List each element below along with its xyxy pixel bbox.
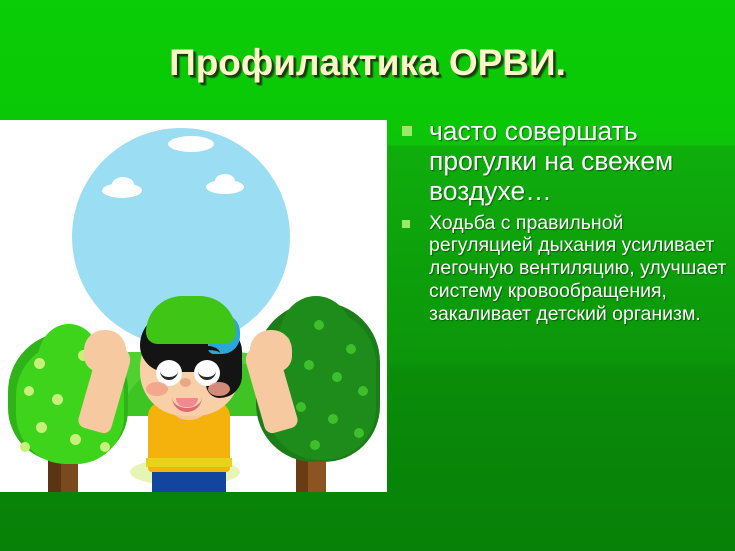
bullet-list: часто совершать прогулки на свежем возду…: [402, 116, 727, 326]
leaf-dot: [328, 414, 338, 424]
cloud-icon: [112, 177, 134, 192]
leaf-dot: [34, 358, 45, 369]
bullet-item-1: часто совершать прогулки на свежем возду…: [402, 116, 727, 207]
slide-illustration: [0, 120, 387, 492]
boy-hand-right: [250, 330, 292, 372]
slide-body-text: часто совершать прогулки на свежем возду…: [402, 116, 727, 326]
leaf-dot: [354, 428, 364, 438]
bullet-item-2-label: Ходьба с правильной регуляцией дыхания у…: [429, 212, 727, 326]
presentation-slide: Профилактика ОРВИ.: [0, 0, 735, 551]
leaf-dot: [296, 402, 306, 412]
boy-eyebrow-left: [158, 346, 182, 361]
leaf-dot: [314, 320, 324, 330]
bullet-item-1-label: часто совершать прогулки на свежем возду…: [429, 116, 727, 207]
leaf-dot: [358, 386, 368, 396]
page-title: Профилактика ОРВИ.: [0, 44, 735, 83]
leaf-dot: [52, 394, 63, 405]
bullet-item-2: Ходьба с правильной регуляцией дыхания у…: [402, 212, 727, 326]
leaf-dot: [36, 422, 47, 433]
leaf-dot: [304, 360, 314, 370]
boy-cap: [146, 296, 236, 344]
boy-eyebrow-right: [196, 346, 220, 361]
leaf-dot: [332, 372, 342, 382]
leaf-dot: [20, 442, 30, 452]
leaf-dot: [100, 442, 110, 452]
boy-cheek-right: [208, 382, 230, 396]
boy-belt: [146, 458, 232, 467]
boy-hand-left: [84, 330, 126, 372]
bullet-square-icon: [402, 220, 410, 228]
leaf-dot: [70, 434, 81, 445]
bullet-square-icon: [402, 126, 412, 136]
boy-nose: [180, 378, 191, 387]
leaf-dot: [24, 386, 34, 396]
cloud-icon: [168, 136, 214, 152]
cloud-icon: [215, 174, 235, 188]
leaf-dot: [310, 440, 320, 450]
leaf-dot: [346, 344, 356, 354]
boy-cheek-left: [146, 382, 168, 396]
